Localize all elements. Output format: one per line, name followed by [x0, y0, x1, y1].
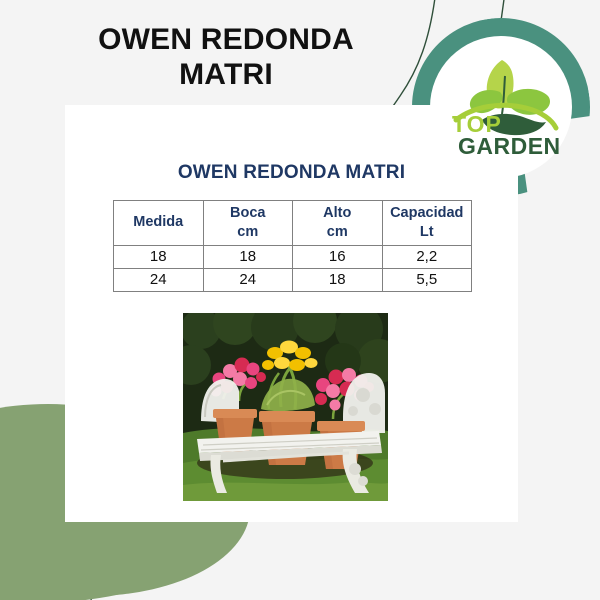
product-photo	[183, 313, 388, 501]
table-header-cell: Alto cm	[293, 201, 383, 246]
spec-table: Medida Boca cm Alto cm Capacidad Lt	[113, 200, 472, 292]
table-cell: 16	[293, 246, 383, 269]
brand-logo: TOP GARDEN	[430, 36, 572, 178]
table-header-unit: cm	[204, 223, 293, 242]
table-cell: 18	[203, 246, 293, 269]
table-header-unit: cm	[293, 223, 382, 242]
page-title-line2: MATRI	[46, 57, 406, 92]
table-row: 18 18 16 2,2	[114, 246, 472, 269]
page-title: OWEN REDONDA MATRI	[46, 22, 406, 93]
card-subtitle: OWEN REDONDA MATRI	[65, 162, 518, 184]
table-row: 24 24 18 5,5	[114, 269, 472, 292]
table-cell: 24	[203, 269, 293, 292]
page-title-line1: OWEN REDONDA	[98, 23, 354, 56]
table-header-cell: Boca cm	[203, 201, 293, 246]
table-header-cell: Medida	[114, 201, 204, 246]
table-cell: 5,5	[382, 269, 472, 292]
table-cell: 18	[114, 246, 204, 269]
spec-table-wrapper: Medida Boca cm Alto cm Capacidad Lt	[113, 200, 472, 292]
table-cell: 18	[293, 269, 383, 292]
table-cell: 24	[114, 269, 204, 292]
table-header-name: Boca	[230, 205, 265, 221]
table-header-unit: Lt	[383, 223, 472, 242]
table-header-name: Alto	[323, 205, 351, 221]
table-header-cell: Capacidad Lt	[382, 201, 472, 246]
poster-canvas: OWEN REDONDA MATRI TOP GARDEN OWEN REDON…	[0, 0, 600, 600]
table-header-row: Medida Boca cm Alto cm Capacidad Lt	[114, 201, 472, 246]
logo-word-bottom: GARDEN	[458, 133, 561, 159]
table-header-name: Capacidad	[390, 205, 463, 221]
table-cell: 2,2	[382, 246, 472, 269]
product-photo-illustration	[183, 313, 388, 501]
table-header-name: Medida	[133, 214, 183, 230]
